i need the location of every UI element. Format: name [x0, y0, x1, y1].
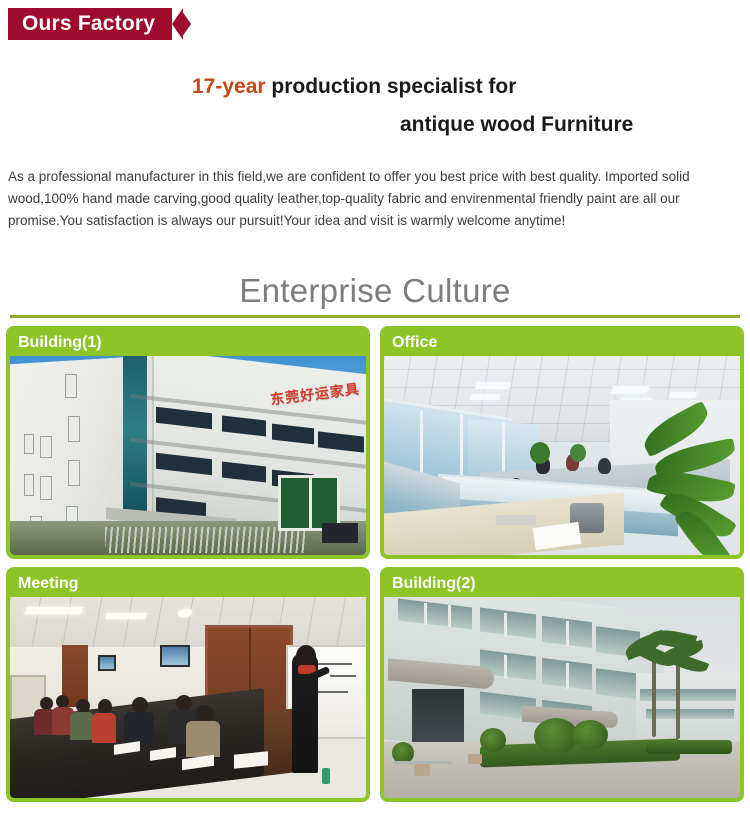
desk-plant [530, 442, 550, 464]
window-mullion [460, 414, 463, 476]
gallery-card-office[interactable]: Office [380, 326, 744, 559]
window-mullion [448, 605, 451, 627]
headline-line-2: antique wood Furniture [0, 110, 750, 140]
photo-building-1: 东莞好运家具 [10, 356, 366, 555]
headline-years: 17-year [192, 75, 266, 98]
gallery-grid: Building(1) [6, 326, 744, 802]
window-band [596, 668, 640, 699]
handrail [394, 761, 452, 764]
whiteboard-writing [318, 663, 352, 665]
desk-folder [496, 515, 536, 525]
ceiling-light [469, 394, 501, 400]
whiteboard-writing [330, 675, 356, 677]
photo-office [384, 356, 740, 555]
ceiling-light [475, 382, 511, 389]
window-mullion [566, 663, 569, 689]
planter [468, 754, 482, 764]
water-bottle [322, 768, 330, 784]
window-mullion [502, 422, 505, 478]
attendee-head [76, 699, 90, 713]
window [68, 416, 80, 442]
window [24, 474, 34, 496]
attendee-head [132, 697, 148, 713]
headline-line-1: 17-year production specialist for [0, 72, 750, 102]
photo-building-2 [384, 597, 740, 798]
card-label-meeting: Meeting [10, 571, 366, 597]
window [24, 434, 34, 454]
window-mullion [504, 655, 507, 679]
ceiling-light [105, 613, 147, 619]
shrub [480, 728, 506, 752]
gallery-card-building-1[interactable]: Building(1) [6, 326, 370, 559]
attendee-head [98, 699, 112, 714]
wall-picture [160, 645, 190, 667]
gallery-card-building-2[interactable]: Building(2) [380, 567, 744, 802]
stairwell-glass [123, 356, 147, 516]
fence [105, 527, 305, 553]
card-label-building-1: Building(1) [10, 330, 366, 356]
page-title: Enterprise Culture [0, 270, 750, 312]
attendee-body [92, 713, 116, 743]
card-label-office: Office [384, 330, 740, 356]
person [598, 458, 611, 474]
ours-factory-banner: Ours Factory [8, 8, 183, 40]
window-mullion [504, 613, 507, 637]
window [65, 374, 77, 398]
shrub [572, 720, 608, 750]
window [40, 436, 52, 458]
attendee-head [176, 695, 192, 711]
ceiling-light [669, 392, 697, 398]
headline-line-1-rest: production specialist for [266, 75, 517, 98]
planter [414, 764, 430, 776]
window-mullion [424, 603, 427, 625]
factory-profile-page: Ours Factory 17-year production speciali… [0, 0, 750, 832]
window [40, 476, 52, 500]
title-divider [10, 315, 740, 318]
attendee-body [70, 712, 94, 740]
presenter-head [296, 645, 316, 667]
photo-meeting [10, 597, 366, 798]
floor-plant [630, 406, 740, 555]
wall-panel [322, 523, 358, 543]
window-band [646, 709, 734, 719]
headline: 17-year production specialist for antiqu… [0, 72, 750, 140]
intro-paragraph: As a professional manufacturer in this f… [8, 166, 744, 232]
card-label-building-2: Building(2) [384, 571, 740, 597]
window [68, 460, 80, 486]
wall-picture [98, 655, 116, 671]
ceiling-light [25, 607, 84, 614]
attendee-body [186, 721, 220, 757]
gallery-card-meeting[interactable]: Meeting [6, 567, 370, 802]
hedge [646, 740, 732, 754]
desk-plant [570, 444, 586, 462]
ceiling-light [611, 386, 650, 394]
window-mullion [420, 410, 423, 476]
ribbon-arrow-shape [182, 11, 191, 37]
ours-factory-label: Ours Factory [8, 8, 183, 40]
whiteboard-writing [318, 691, 348, 693]
window-mullion [566, 621, 569, 647]
